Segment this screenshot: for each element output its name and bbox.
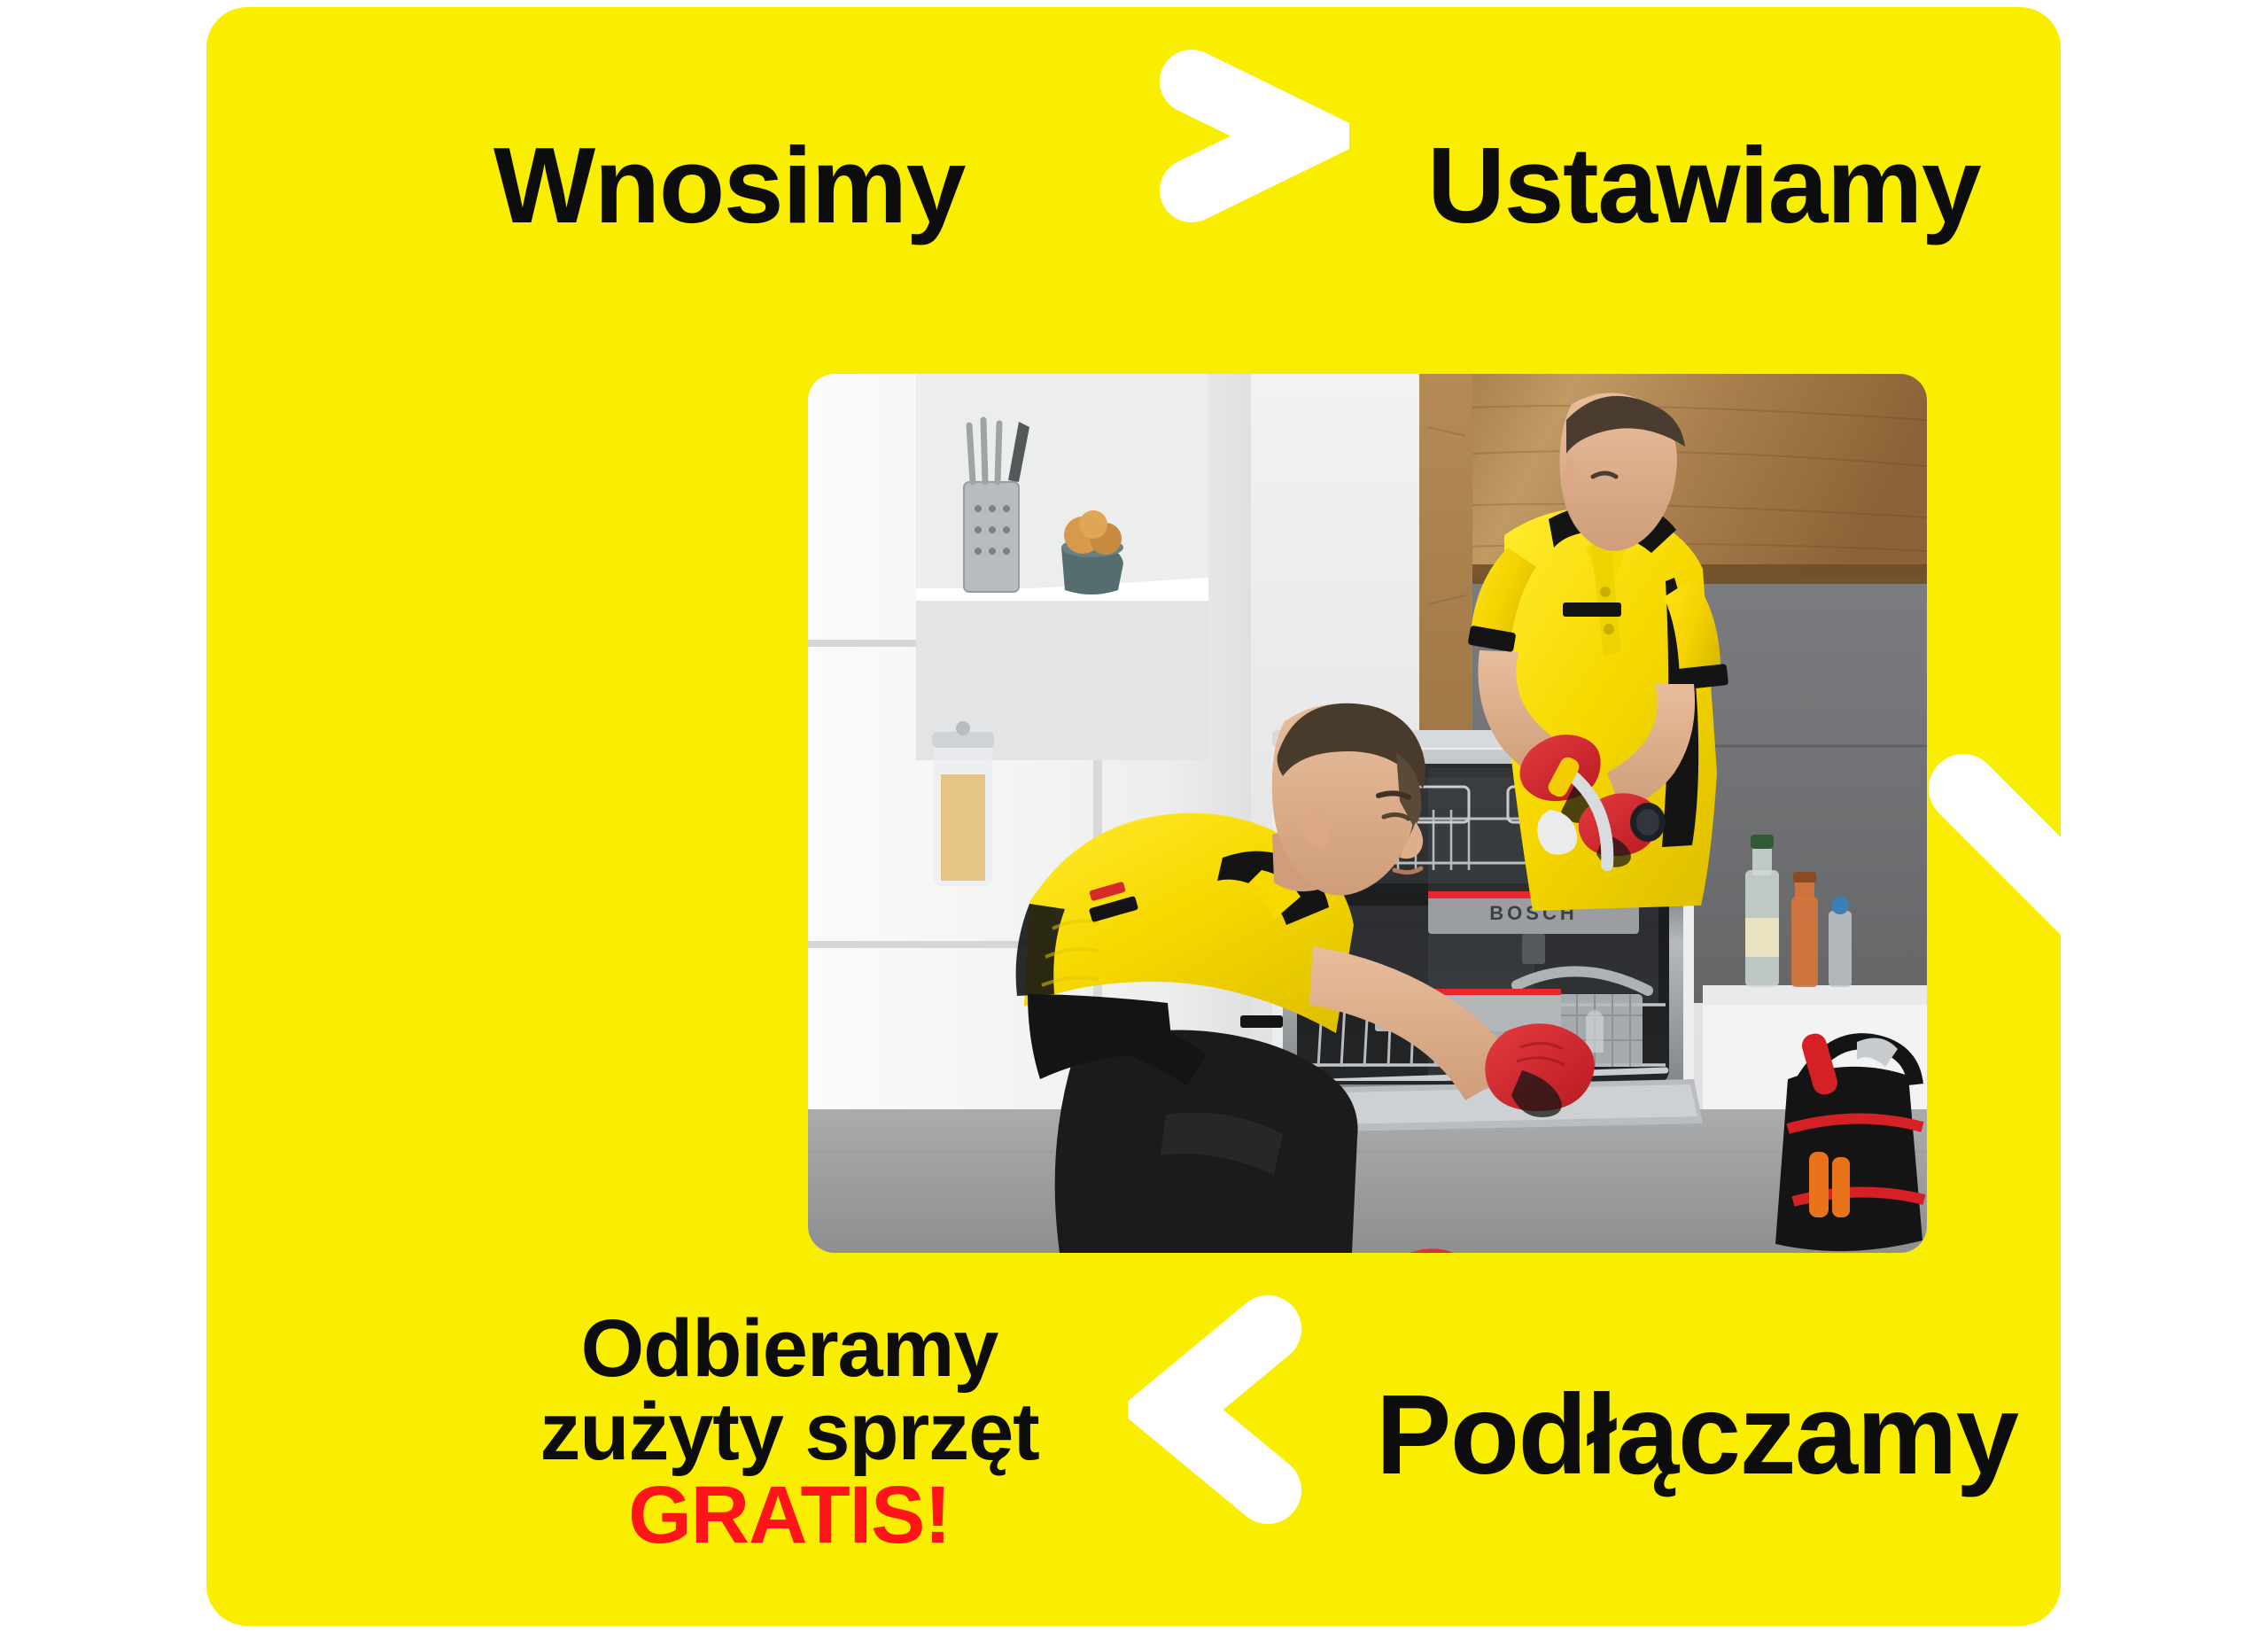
chevron-left-icon: [1128, 1294, 1309, 1526]
chevron-right-icon: [1146, 50, 1349, 222]
bottom-left-text-block: Odbieramy zużyty sprzęt GRATIS!: [479, 1308, 1099, 1557]
text-odbieramy: Odbieramy: [479, 1308, 1099, 1391]
chevron-down-icon: [1923, 750, 2209, 955]
headline-podlaczamy: Podłączamy: [1376, 1379, 2018, 1492]
text-gratis: GRATIS!: [479, 1474, 1099, 1558]
installation-photo: BOSCH: [808, 374, 1927, 1253]
yellow-promo-card: Wnosimy Ustawiamy: [206, 7, 2061, 1626]
headline-ustawiamy: Ustawiamy: [1427, 131, 1980, 239]
text-zuzyty-sprzet: zużyty sprzęt: [479, 1391, 1099, 1474]
headline-wnosimy: Wnosimy: [493, 131, 965, 239]
